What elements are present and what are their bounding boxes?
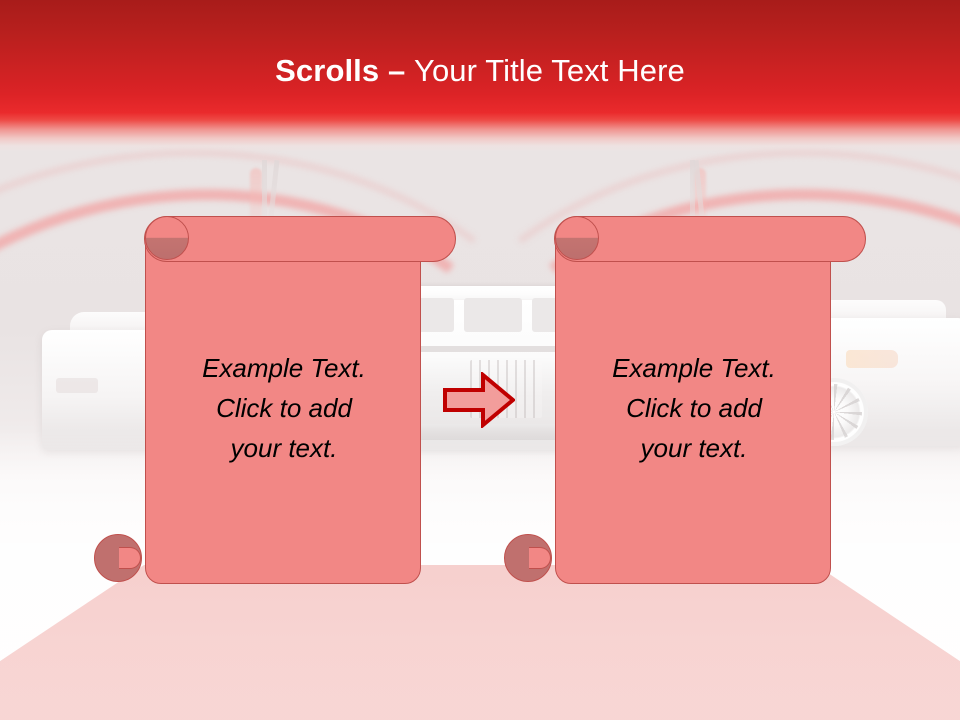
scroll-right[interactable]: Example Text. Click to add your text. [548, 216, 868, 584]
limousine-window-mid [464, 298, 522, 332]
page-title-normal: Your Title Text Here [414, 53, 685, 88]
right-arrow-icon[interactable] [443, 372, 515, 428]
scroll-left[interactable]: Example Text. Click to add your text. [138, 216, 458, 584]
scroll-left-text[interactable]: Example Text. Click to add your text. [158, 348, 410, 468]
scroll-right-top-roll [554, 216, 866, 262]
page-title: Scrolls – Your Title Text Here [0, 52, 960, 90]
scroll-left-top-curl [145, 216, 189, 260]
scroll-right-top-curl [555, 216, 599, 260]
page-title-bold: Scrolls – [275, 53, 414, 88]
right-arrow-svg [443, 372, 515, 428]
slide-canvas: Scrolls – Your Title Text Here Example T… [0, 0, 960, 720]
scroll-right-bottom-curl-notch [529, 547, 551, 569]
pink-carpet [0, 565, 960, 720]
scroll-left-bottom-curl-notch [119, 547, 141, 569]
scroll-right-text[interactable]: Example Text. Click to add your text. [568, 348, 820, 468]
scroll-left-top-roll [144, 216, 456, 262]
car-left-taillight [56, 378, 98, 393]
